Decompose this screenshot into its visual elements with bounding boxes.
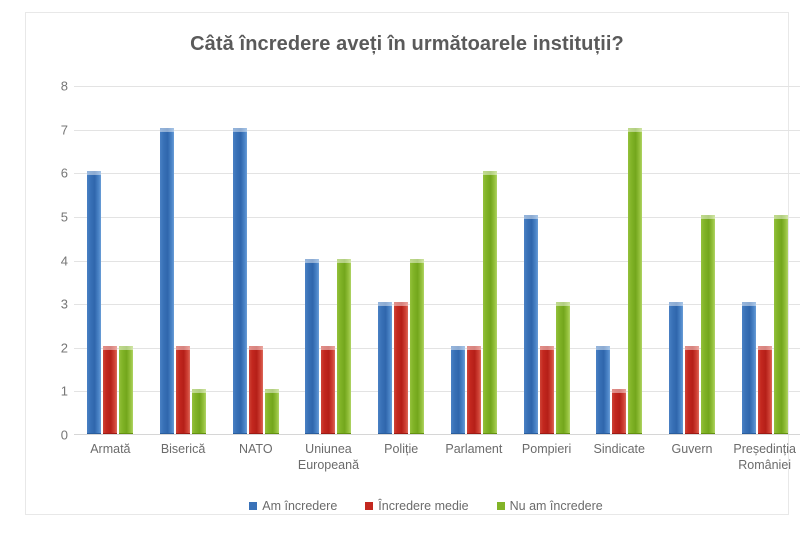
y-axis-tick-labels: 876543210 xyxy=(44,86,68,435)
bar-group xyxy=(219,86,292,435)
y-axis-tick-6: 6 xyxy=(44,166,68,181)
bar[interactable] xyxy=(265,389,279,435)
bar[interactable] xyxy=(540,346,554,435)
bar[interactable] xyxy=(685,346,699,435)
legend-label: Nu am încredere xyxy=(510,499,603,513)
bar-group xyxy=(656,86,729,435)
y-axis-tick-3: 3 xyxy=(44,297,68,312)
y-axis-tick-4: 4 xyxy=(44,253,68,268)
bar-group xyxy=(147,86,220,435)
bar[interactable] xyxy=(378,302,392,435)
y-axis-tick-8: 8 xyxy=(44,79,68,94)
legend-item[interactable]: Încredere medie xyxy=(365,499,468,513)
bar[interactable] xyxy=(305,259,319,436)
bar[interactable] xyxy=(192,389,206,435)
y-axis-tick-7: 7 xyxy=(44,122,68,137)
y-axis-tick-0: 0 xyxy=(44,428,68,443)
y-axis-tick-2: 2 xyxy=(44,340,68,355)
x-axis-label: Guvern xyxy=(656,441,729,473)
legend-swatch-icon xyxy=(365,502,373,510)
bar[interactable] xyxy=(758,346,772,435)
chart-frame: Câtă încredere aveți în următoarele inst… xyxy=(25,12,789,515)
bar[interactable] xyxy=(337,259,351,436)
bar[interactable] xyxy=(669,302,683,435)
x-axis-label: Parlament xyxy=(438,441,511,473)
chart-title: Câtă încredere aveți în următoarele inst… xyxy=(26,33,788,56)
bar-group xyxy=(510,86,583,435)
bar[interactable] xyxy=(524,215,538,435)
bar-group xyxy=(365,86,438,435)
bar[interactable] xyxy=(612,389,626,435)
legend-label: Încredere medie xyxy=(378,499,468,513)
legend-label: Am încredere xyxy=(262,499,337,513)
x-axis-label: Armată xyxy=(74,441,147,473)
bar-group xyxy=(74,86,147,435)
bar[interactable] xyxy=(596,346,610,435)
bar[interactable] xyxy=(451,346,465,435)
bar[interactable] xyxy=(233,128,247,435)
bar[interactable] xyxy=(628,128,642,435)
bar[interactable] xyxy=(249,346,263,435)
y-axis-tick-5: 5 xyxy=(44,209,68,224)
x-axis-label: NATO xyxy=(219,441,292,473)
y-axis-tick-1: 1 xyxy=(44,384,68,399)
bar[interactable] xyxy=(394,302,408,435)
legend-item[interactable]: Nu am încredere xyxy=(497,499,603,513)
bar-group xyxy=(583,86,656,435)
bar[interactable] xyxy=(742,302,756,435)
bar[interactable] xyxy=(87,171,101,435)
bar[interactable] xyxy=(483,171,497,435)
x-axis-label: Sindicate xyxy=(583,441,656,473)
legend-swatch-icon xyxy=(497,502,505,510)
x-axis-label: Uniunea Europeană xyxy=(292,441,365,473)
chart-screenshot: Câtă încredere aveți în următoarele inst… xyxy=(0,0,800,534)
x-axis-baseline xyxy=(74,434,800,435)
bar[interactable] xyxy=(556,302,570,435)
x-axis-category-labels: ArmatăBisericăNATOUniunea EuropeanăPoliț… xyxy=(74,441,800,473)
x-axis-label: Poliție xyxy=(365,441,438,473)
legend-item[interactable]: Am încredere xyxy=(249,499,337,513)
bar-group xyxy=(728,86,800,435)
bar-groups xyxy=(74,86,800,435)
bar[interactable] xyxy=(410,259,424,436)
bar[interactable] xyxy=(160,128,174,435)
bar[interactable] xyxy=(701,215,715,435)
bar[interactable] xyxy=(176,346,190,435)
bar-group xyxy=(292,86,365,435)
x-axis-label: Președinția României xyxy=(728,441,800,473)
bar[interactable] xyxy=(467,346,481,435)
chart-legend: Am încredereÎncredere medieNu am încrede… xyxy=(26,499,800,513)
bar[interactable] xyxy=(774,215,788,435)
x-axis-label: Pompieri xyxy=(510,441,583,473)
bar[interactable] xyxy=(119,346,133,435)
plot-area xyxy=(74,86,800,435)
bar[interactable] xyxy=(103,346,117,435)
legend-swatch-icon xyxy=(249,502,257,510)
bar-group xyxy=(438,86,511,435)
bar[interactable] xyxy=(321,346,335,435)
x-axis-label: Biserică xyxy=(147,441,220,473)
